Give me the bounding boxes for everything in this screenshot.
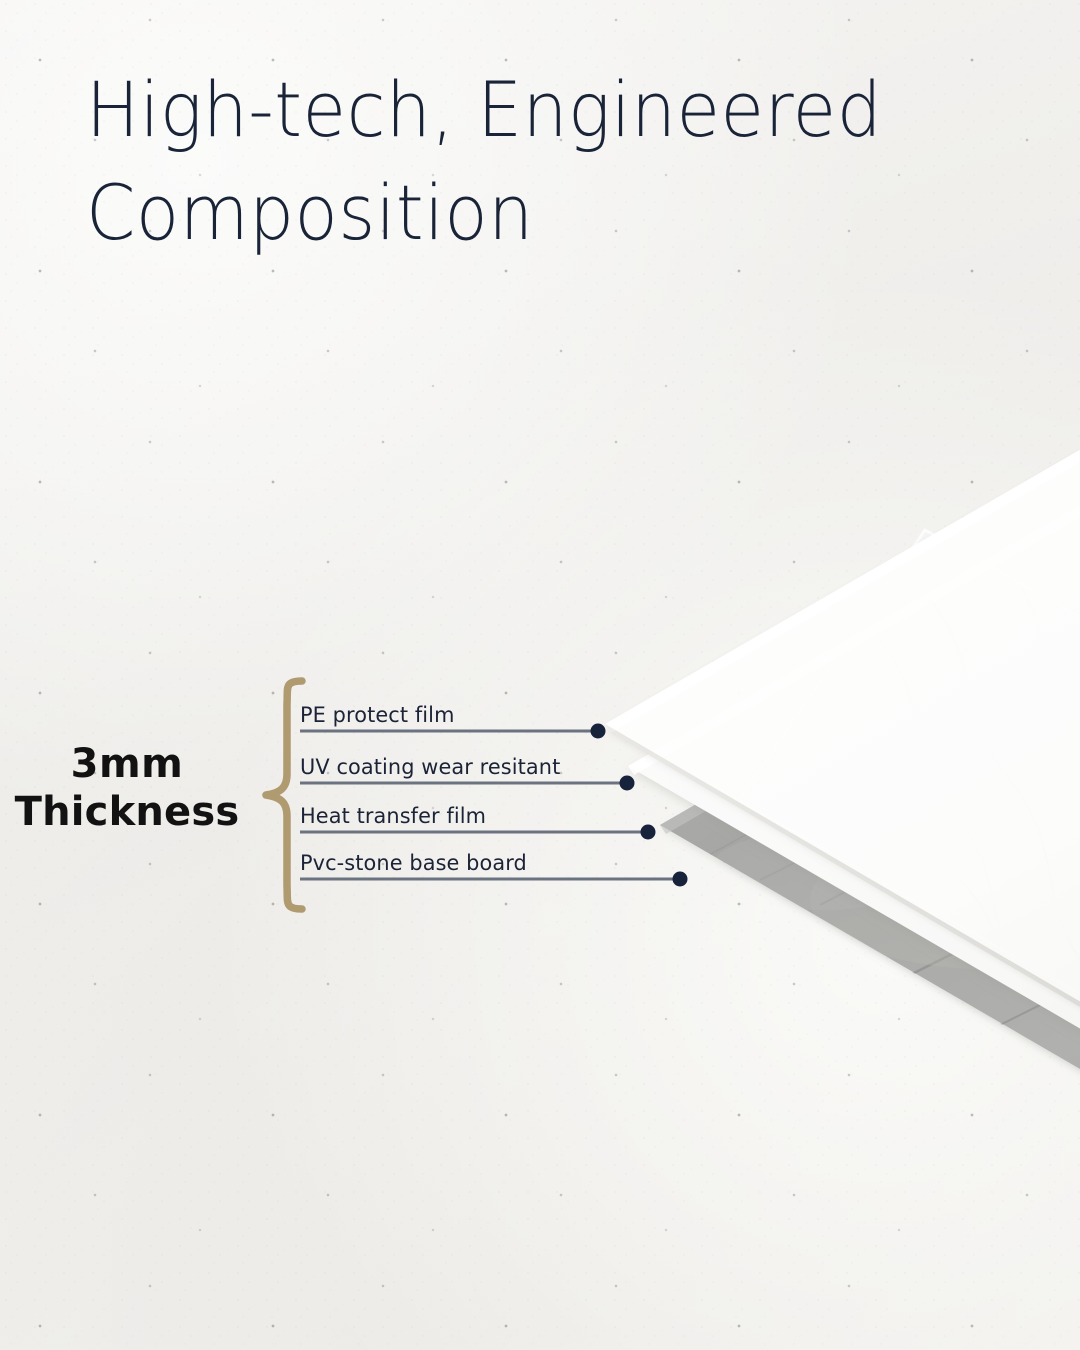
layer-label-pvc-stone-base-board: Pvc-stone base board: [300, 851, 527, 876]
layer-label-pe-protect-film: PE protect film: [300, 703, 454, 728]
layer-label-uv-coating-wear-resitant: UV coating wear resitant: [300, 755, 560, 780]
leader-dot: [591, 724, 606, 739]
poster-canvas: High-tech, Engineered Composition 3mm Th…: [0, 0, 1080, 1350]
layer-label-heat-transfer-film: Heat transfer film: [300, 804, 486, 829]
leader-dot: [673, 872, 688, 887]
leader-dot: [620, 776, 635, 791]
leader-dot: [641, 825, 656, 840]
leader-lines-group: [0, 0, 1080, 1350]
